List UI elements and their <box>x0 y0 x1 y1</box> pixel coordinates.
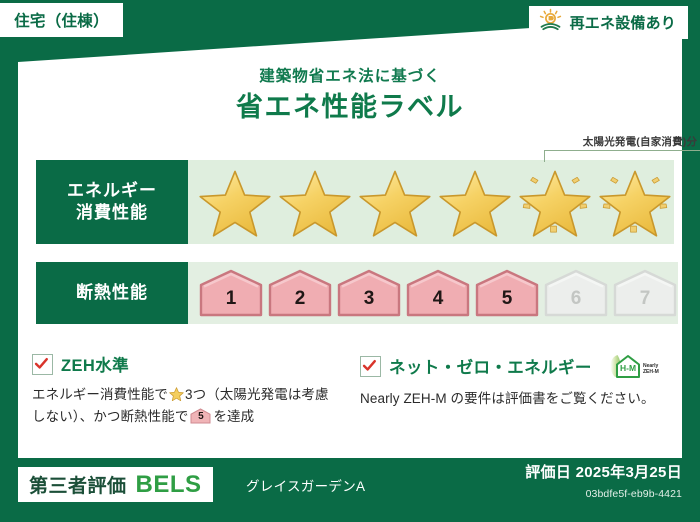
insulation-performance-value: 1 2 3 4 5 6 7 <box>188 262 678 324</box>
insulation-key-line1: 断熱性能 <box>76 282 148 304</box>
insulation-level-value: 5 <box>502 288 513 317</box>
star-filled <box>196 164 274 240</box>
insulation-level-badge-active: 5 <box>474 269 540 317</box>
solar-bracket <box>544 150 700 162</box>
insulation-level-badge-inline: 5 <box>190 408 211 424</box>
building-type-label: 住宅（住棟） <box>14 9 109 31</box>
insulation-level-badge-inline-value: 5 <box>190 408 211 424</box>
bels-label: BELS <box>136 471 202 499</box>
net-zero-energy-heading: ネット・ゼロ・エネルギー H-M Nearly ZEH-M <box>360 352 660 380</box>
third-party-eval-label: 第三者評価 <box>29 471 127 498</box>
svg-text:ZEH-M: ZEH-M <box>643 369 659 375</box>
evaluation-date-value: 2025年3月25日 <box>576 464 682 481</box>
insulation-level-badge-inactive: 6 <box>543 269 609 317</box>
zeh-body-part1: エネルギー消費性能で <box>32 387 168 402</box>
evaluation-id: 03bdfe5f-eb9b-4421 <box>586 488 682 500</box>
svg-text:H-M: H-M <box>620 363 636 373</box>
insulation-level-scale: 1 2 3 4 5 6 7 <box>188 269 678 317</box>
energy-performance-row: エネルギー 消費性能 太陽光発電(自家消費)分 <box>36 160 668 244</box>
insulation-level-value: 3 <box>364 288 375 317</box>
zeh-body-part4: を達成 <box>213 409 254 424</box>
insulation-performance-row: 断熱性能 1 2 3 4 5 6 7 <box>36 262 668 324</box>
star-solar <box>596 164 674 240</box>
zeh-standard-block: ZEH水準 エネルギー消費性能で3つ（太陽光発電は考慮しない）、かつ断熱性能で5… <box>32 352 332 428</box>
insulation-level-badge-active: 3 <box>336 269 402 317</box>
page-title: 省エネ性能ラベル <box>0 85 700 124</box>
net-zero-energy-body: Nearly ZEH-M の要件は評価書をご覧ください。 <box>360 388 660 410</box>
insulation-level-badge-active: 2 <box>267 269 333 317</box>
insulation-level-badge-active: 4 <box>405 269 471 317</box>
star-icon <box>169 386 184 401</box>
insulation-level-badge-active: 1 <box>198 269 264 317</box>
building-type-chip: 住宅（住棟） <box>0 3 123 37</box>
star-filled <box>356 164 434 240</box>
net-zero-energy-title: ネット・ゼロ・エネルギー <box>389 354 592 378</box>
evaluation-date: 評価日 2025年3月25日 <box>525 461 682 482</box>
zeh-standard-body: エネルギー消費性能で3つ（太陽光発電は考慮しない）、かつ断熱性能で5を達成 <box>32 384 332 428</box>
star-solar <box>516 164 594 240</box>
project-name: グレイスガーデンA <box>246 475 365 495</box>
insulation-level-value: 4 <box>433 288 444 317</box>
renewable-equipment-badge: 再エネ設備あり <box>529 6 688 39</box>
insulation-level-value: 7 <box>640 288 651 317</box>
check-icon <box>32 354 53 375</box>
evaluation-date-label: 評価日 <box>525 464 571 481</box>
zeh-m-house-logo: H-M Nearly ZEH-M <box>605 352 661 380</box>
energy-key-line1: エネルギー <box>67 180 157 202</box>
star-filled <box>436 164 514 240</box>
energy-performance-label: 住宅（住棟） 再エネ設備あり 建築物省エネ法に基づく 省エネ性能ラベル <box>0 0 700 522</box>
insulation-level-badge-inactive: 7 <box>612 269 678 317</box>
solar-sun-icon <box>538 8 563 37</box>
insulation-performance-key: 断熱性能 <box>36 262 188 324</box>
energy-key-line2: 消費性能 <box>76 202 148 224</box>
solar-bracket-caption: 太陽光発電(自家消費)分 <box>540 134 700 149</box>
zeh-standard-heading: ZEH水準 <box>32 352 332 376</box>
renewable-badge-label: 再エネ設備あり <box>570 12 676 33</box>
insulation-level-value: 6 <box>571 288 582 317</box>
insulation-level-value: 2 <box>295 288 306 317</box>
zeh-standard-title: ZEH水準 <box>61 352 129 376</box>
energy-performance-key: エネルギー 消費性能 <box>36 160 188 244</box>
check-icon <box>360 356 381 377</box>
bels-chip: 第三者評価 BELS <box>18 467 213 502</box>
star-rating <box>188 164 674 240</box>
label-subtitle: 建築物省エネ法に基づく <box>0 64 700 86</box>
star-filled <box>276 164 354 240</box>
insulation-level-value: 1 <box>226 288 237 317</box>
energy-performance-value: 太陽光発電(自家消費)分 <box>188 160 674 244</box>
net-zero-energy-block: ネット・ゼロ・エネルギー H-M Nearly ZEH-M <box>360 352 660 410</box>
zeh-body-part2: 3つ（太陽光発電 <box>185 387 288 402</box>
